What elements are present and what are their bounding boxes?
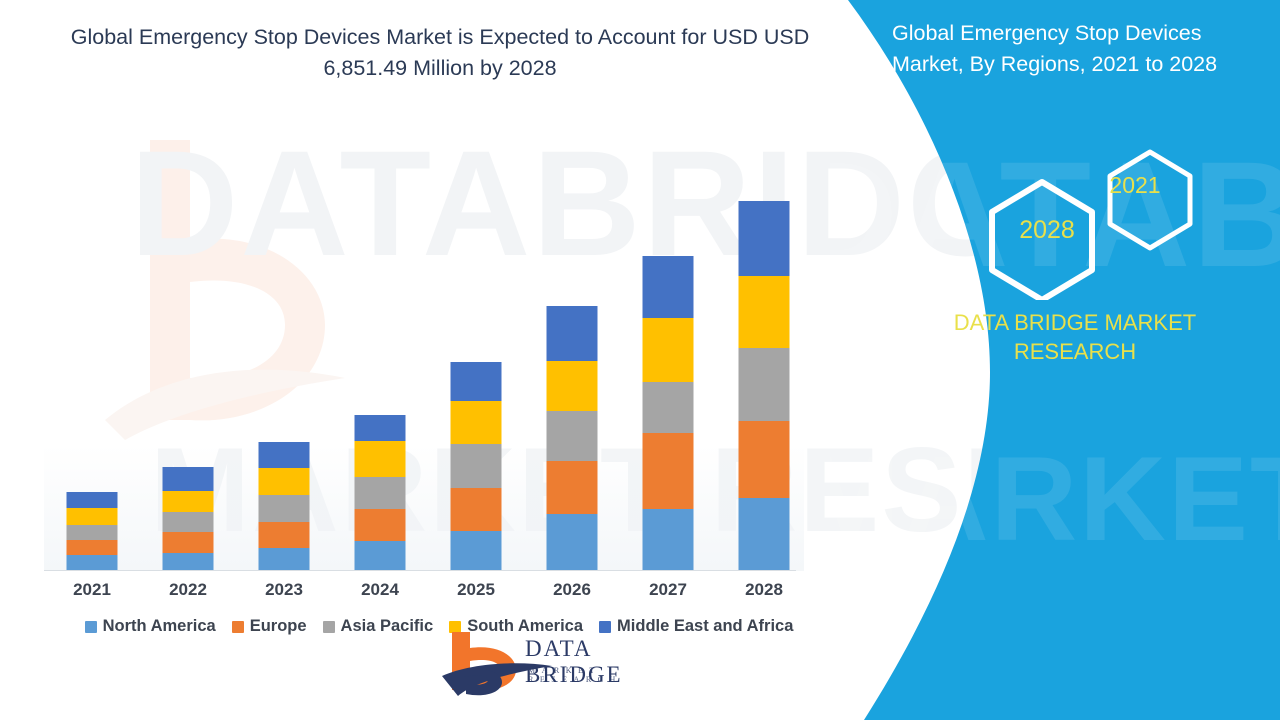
bar-segment[interactable] [739,498,790,571]
bar-segment[interactable] [739,201,790,276]
bar-segment[interactable] [259,548,310,571]
bar-segment[interactable] [739,348,790,421]
bar-segment[interactable] [355,541,406,571]
x-tick-2024: 2024 [332,580,428,600]
stacked-bar[interactable] [67,492,118,571]
bar-slot [44,150,140,571]
x-tick-2022: 2022 [140,580,236,600]
bar-segment[interactable] [163,467,214,491]
bar-segment[interactable] [259,442,310,468]
legend-item[interactable]: Europe [232,617,307,636]
bar-segment[interactable] [355,441,406,477]
bar-segment[interactable] [739,276,790,348]
bar-segment[interactable] [355,415,406,441]
legend-item[interactable]: Asia Pacific [323,617,434,636]
stacked-bar[interactable] [547,306,598,571]
bar-slot [332,150,428,571]
company-logo: DATA BRIDGE MARKET RESEARCH [440,630,660,700]
bar-segment[interactable] [547,411,598,461]
bar-segment[interactable] [547,361,598,411]
legend-label: Asia Pacific [341,617,434,636]
legend-label: Europe [250,617,307,636]
stacked-bar[interactable] [451,362,502,571]
bar-slot [524,150,620,571]
bar-segment[interactable] [67,540,118,555]
x-tick-2026: 2026 [524,580,620,600]
bar-segment[interactable] [163,553,214,571]
legend-item[interactable]: North America [85,617,216,636]
bar-segment[interactable] [259,522,310,548]
bar-segment[interactable] [67,508,118,525]
hexagon-2021-shape [1110,152,1190,248]
legend-swatch-icon [323,621,335,633]
bar-segment[interactable] [67,525,118,540]
bar-segment[interactable] [547,514,598,571]
x-axis-line [44,570,796,571]
bar-segment[interactable] [643,509,694,571]
bar-segment[interactable] [451,531,502,571]
stacked-bar[interactable] [355,415,406,571]
legend-label: North America [103,617,216,636]
x-tick-2025: 2025 [428,580,524,600]
panel-title: Global Emergency Stop Devices Market, By… [892,18,1262,79]
bar-segment[interactable] [163,512,214,532]
bar-segment[interactable] [643,433,694,509]
bar-segment[interactable] [547,306,598,361]
x-tick-2023: 2023 [236,580,332,600]
bar-segment[interactable] [547,461,598,514]
chart-legend: North AmericaEuropeAsia PacificSouth Ame… [44,617,834,636]
hexagon-badges: 2028 2021 [980,140,1200,300]
stacked-bar[interactable] [163,467,214,571]
bar-segment[interactable] [451,362,502,401]
bar-segment[interactable] [451,488,502,531]
bar-segment[interactable] [451,401,502,444]
chart-pane: DATABRIDGE MARKET RESEARCH Global Emerge… [0,0,900,720]
bar-segment[interactable] [67,492,118,508]
x-tick-2021: 2021 [44,580,140,600]
bar-segment[interactable] [355,509,406,541]
bar-slot [428,150,524,571]
bar-slot [620,150,716,571]
logo-subtext: MARKET RESEARCH [528,666,660,684]
stacked-bar[interactable] [259,442,310,571]
bar-segment[interactable] [643,382,694,433]
legend-swatch-icon [232,621,244,633]
bar-slot [716,150,812,571]
bar-slot [140,150,236,571]
stacked-bar[interactable] [739,201,790,571]
bar-segment[interactable] [643,256,694,318]
bar-slot [236,150,332,571]
infographic-canvas: DATABRIDGE MARKET RESEARCH Global Emerge… [0,0,1280,720]
bar-segment[interactable] [259,495,310,522]
brand-pane: DATABRIDGE MARKET RESEARCH Global Emerge… [830,0,1280,720]
bar-segment[interactable] [451,444,502,488]
x-tick-2028: 2028 [716,580,812,600]
hexagon-2028-label: 2028 [992,216,1102,245]
bar-segment[interactable] [67,555,118,571]
chart-title: Global Emergency Stop Devices Market is … [60,22,820,84]
x-tick-2027: 2027 [620,580,716,600]
hexagon-2021-label: 2021 [1085,172,1185,199]
bar-segment[interactable] [163,491,214,512]
bar-segment[interactable] [739,421,790,498]
bar-segment[interactable] [643,318,694,382]
bar-segment[interactable] [163,532,214,553]
bar-chart-plot [44,150,804,571]
brand-name: DATA BRIDGE MARKET RESEARCH [890,308,1260,367]
bar-segment[interactable] [259,468,310,495]
bar-segment[interactable] [355,477,406,509]
legend-swatch-icon [85,621,97,633]
stacked-bar[interactable] [643,256,694,571]
